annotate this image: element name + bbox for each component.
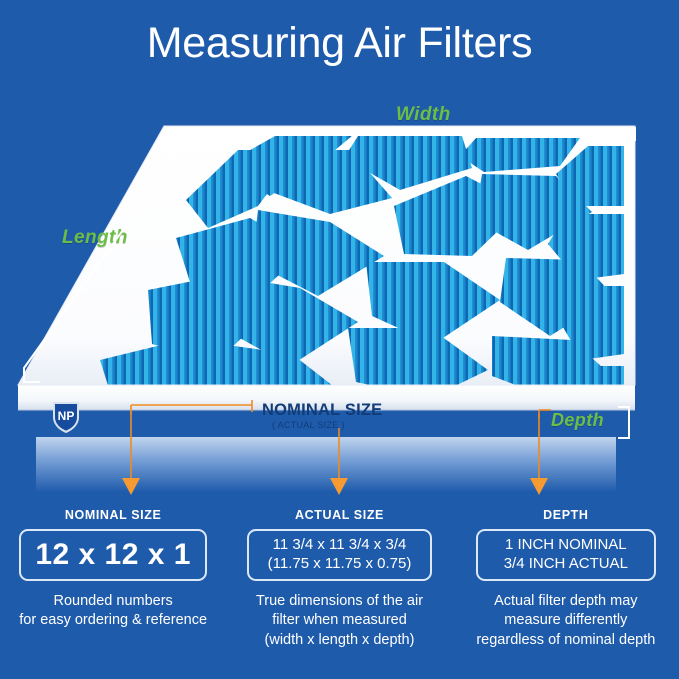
depth-value-box: 1 INCH NOMINAL 3/4 INCH ACTUAL bbox=[476, 529, 656, 581]
caption-line: measure differently bbox=[459, 611, 673, 630]
caption-line: filter when measured bbox=[232, 611, 446, 630]
column-header-actual: ACTUAL SIZE bbox=[226, 508, 452, 522]
column-nominal-size: NOMINAL SIZE 12 x 12 x 1 Rounded numbers… bbox=[0, 508, 226, 673]
caption-line: (width x length x depth) bbox=[232, 631, 446, 650]
width-dimension-label: Width bbox=[396, 104, 451, 126]
callout-connectors bbox=[0, 398, 679, 508]
depth-value-actual: 3/4 INCH ACTUAL bbox=[504, 555, 628, 574]
actual-size-value-fraction: 11 3/4 x 11 3/4 x 3/4 bbox=[273, 536, 407, 555]
caption-line: regardless of nominal depth bbox=[459, 631, 673, 650]
page-title: Measuring Air Filters bbox=[0, 22, 679, 65]
nominal-size-value-box: 12 x 12 x 1 bbox=[19, 529, 207, 581]
nominal-size-caption: Rounded numbers for easy ordering & refe… bbox=[0, 592, 226, 631]
detail-columns: NOMINAL SIZE 12 x 12 x 1 Rounded numbers… bbox=[0, 508, 679, 673]
column-header-nominal: NOMINAL SIZE bbox=[0, 508, 226, 522]
column-header-depth: DEPTH bbox=[453, 508, 679, 522]
actual-size-caption: True dimensions of the air filter when m… bbox=[226, 592, 452, 650]
caption-line: Actual filter depth may bbox=[459, 592, 673, 611]
caption-line: True dimensions of the air bbox=[232, 592, 446, 611]
actual-size-value-decimal: (11.75 x 11.75 x 0.75) bbox=[268, 555, 412, 574]
depth-caption: Actual filter depth may measure differen… bbox=[453, 592, 679, 650]
length-bracket bbox=[0, 120, 240, 420]
infographic-canvas: Measuring Air Filters bbox=[0, 0, 679, 679]
caption-line: for easy ordering & reference bbox=[6, 611, 220, 630]
width-bracket bbox=[232, 127, 636, 141]
actual-size-value-box: 11 3/4 x 11 3/4 x 3/4 (11.75 x 11.75 x 0… bbox=[247, 529, 432, 581]
depth-value-nominal: 1 INCH NOMINAL bbox=[505, 536, 627, 555]
column-actual-size: ACTUAL SIZE 11 3/4 x 11 3/4 x 3/4 (11.75… bbox=[226, 508, 452, 673]
nominal-size-value: 12 x 12 x 1 bbox=[35, 540, 191, 570]
column-depth: DEPTH 1 INCH NOMINAL 3/4 INCH ACTUAL Act… bbox=[453, 508, 679, 673]
caption-line: Rounded numbers bbox=[6, 592, 220, 611]
